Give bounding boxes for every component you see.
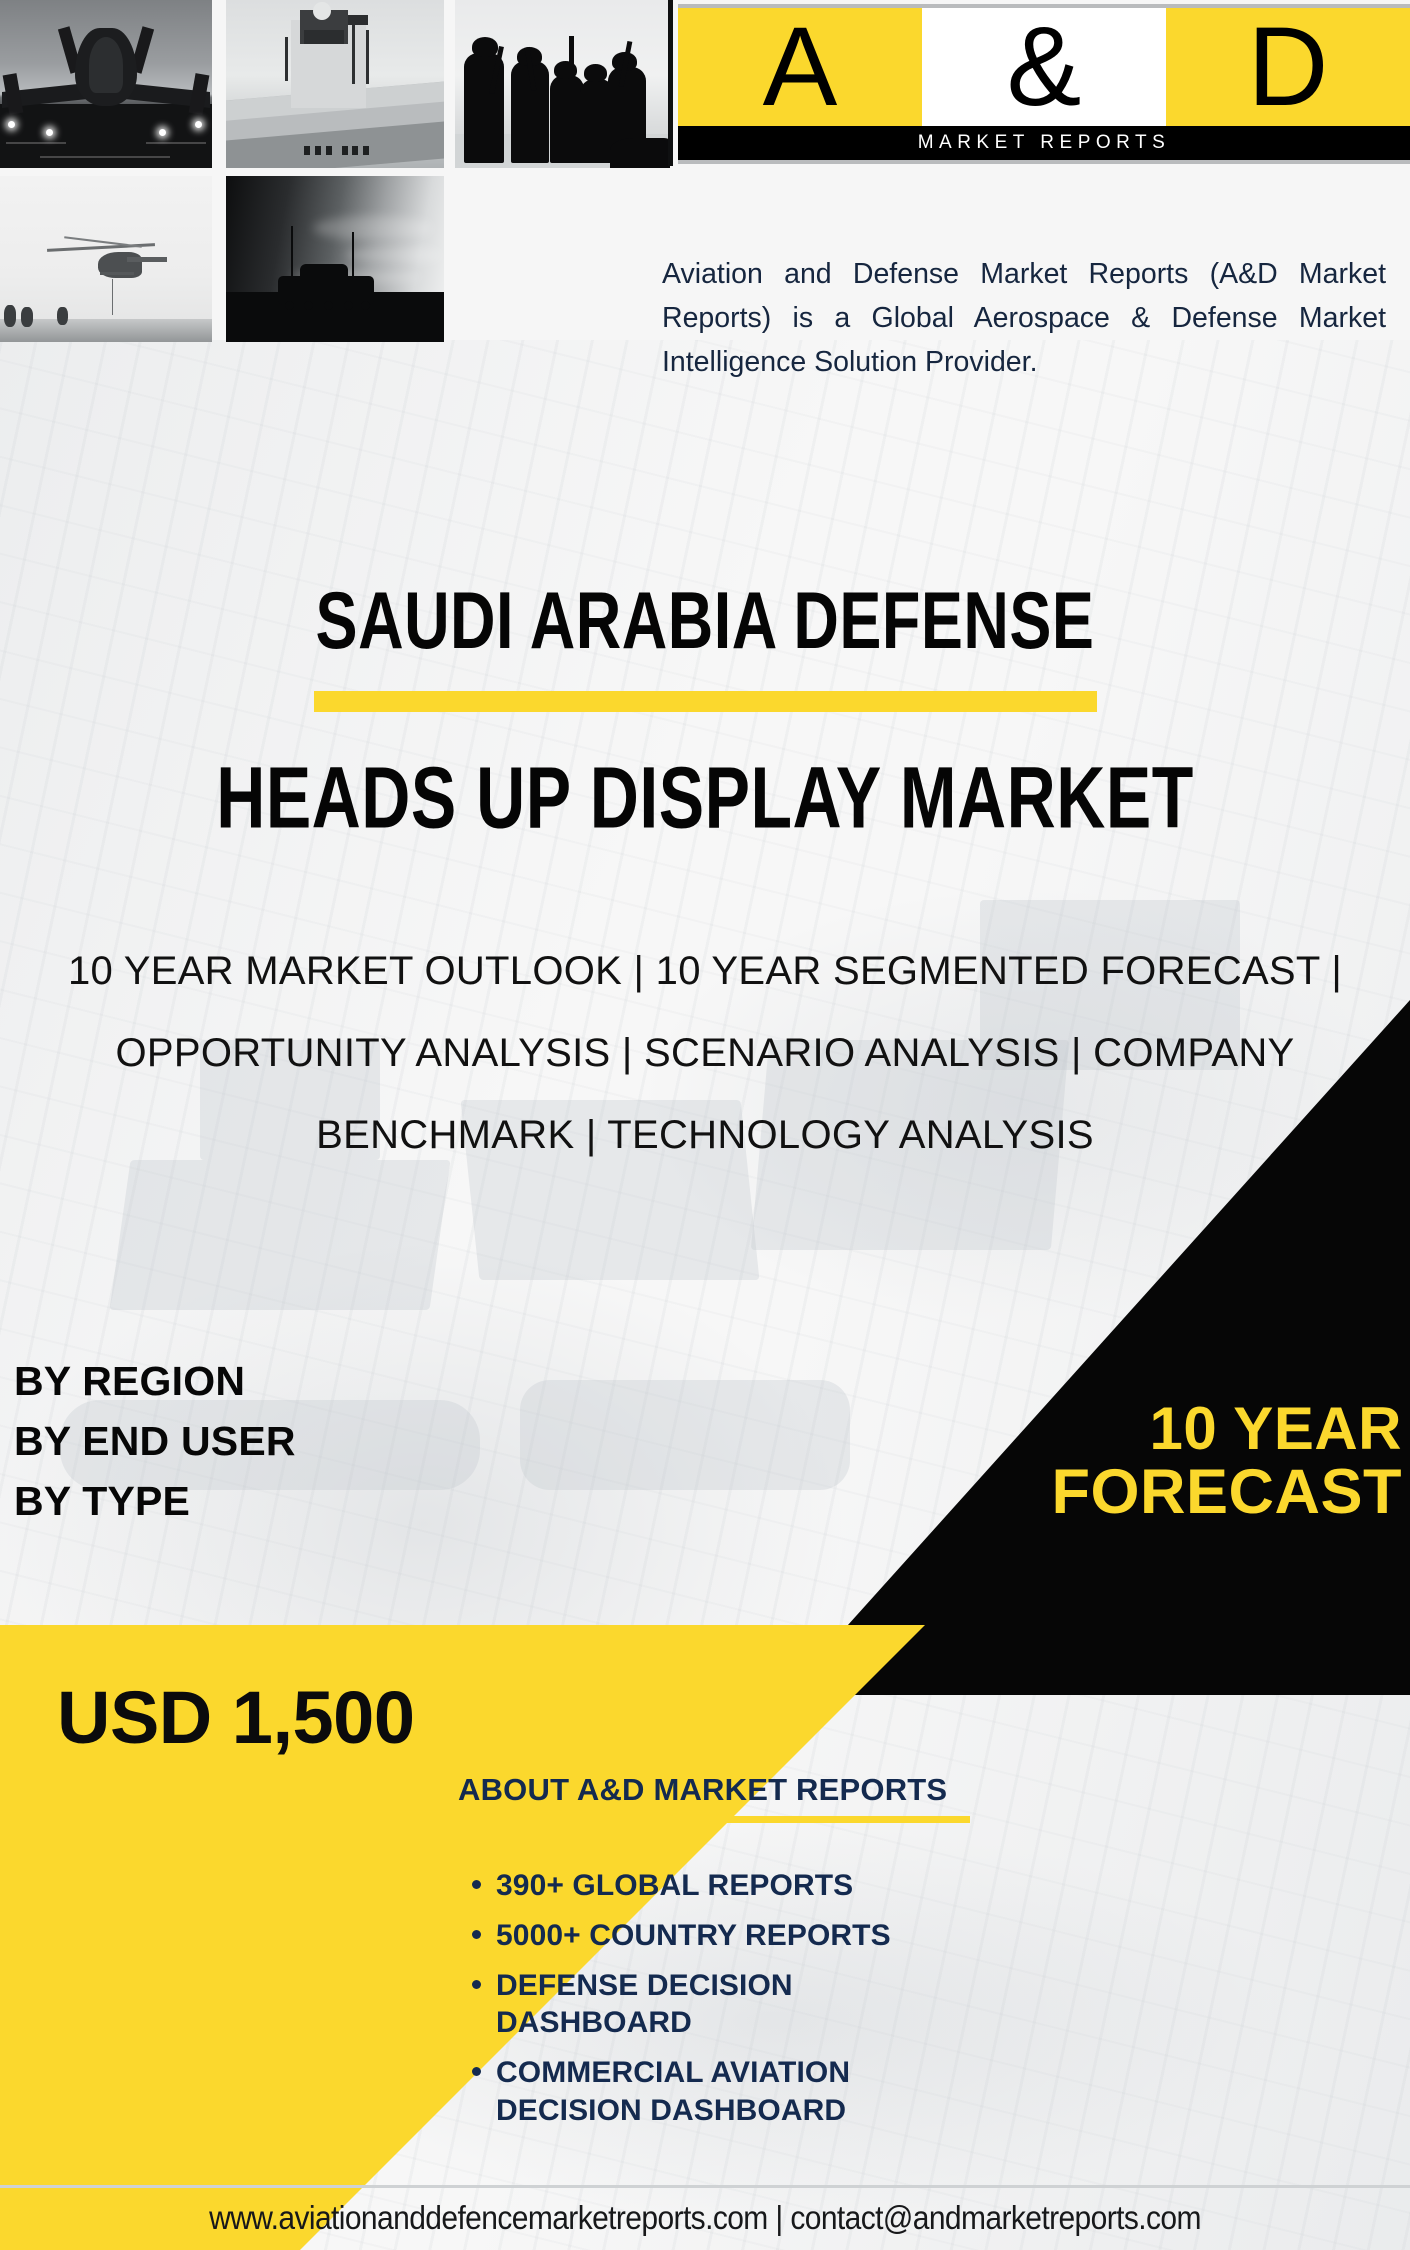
about-item-global-reports: 390+ GLOBAL REPORTS	[458, 1867, 988, 1905]
forecast-badge: 10 YEAR FORECAST	[842, 1398, 1402, 1526]
company-intro-paragraph: Aviation and Defense Market Reports (A&D…	[662, 252, 1386, 385]
logo-cell-a: A	[678, 8, 922, 126]
logo-letter-a: A	[763, 11, 838, 123]
about-section: ABOUT A&D MARKET REPORTS 390+ GLOBAL REP…	[458, 1772, 988, 2142]
about-item-commercial-dashboard: COMMERCIAL AVIATION DECISION DASHBOARD	[458, 2054, 988, 2130]
brand-logo: A & D MARKET REPORTS	[678, 0, 1410, 166]
about-bullet-list: 390+ GLOBAL REPORTS 5000+ COUNTRY REPORT…	[458, 1867, 988, 2130]
page-title: SAUDI ARABIA DEFENSE HEADS UP DISPLAY MA…	[0, 575, 1410, 827]
poster-root: A & D MARKET REPORTS Aviation and Defens…	[0, 0, 1410, 2250]
photo-armored-vehicle	[226, 176, 444, 342]
title-line-2: HEADS UP DISPLAY MARKET	[0, 748, 1410, 848]
logo-letter-ampersand: &	[1007, 11, 1082, 123]
photo-aircraft-carrier	[226, 0, 444, 168]
about-item-country-reports: 5000+ COUNTRY REPORTS	[458, 1917, 988, 1955]
logo-cell-ampersand: &	[922, 8, 1166, 126]
segment-item-region: BY REGION	[14, 1352, 634, 1412]
logo-cell-d: D	[1166, 8, 1410, 126]
logo-bottom-rule	[678, 160, 1410, 164]
photo-helicopter	[0, 176, 212, 342]
logo-letter-d: D	[1248, 11, 1329, 123]
title-line-1: SAUDI ARABIA DEFENSE	[0, 575, 1410, 668]
photo-fighter-jet	[0, 0, 212, 168]
report-scope-subtitle: 10 YEAR MARKET OUTLOOK | 10 YEAR SEGMENT…	[40, 930, 1370, 1176]
forecast-line-1: 10 YEAR	[842, 1398, 1402, 1460]
about-item-defense-dashboard: DEFENSE DECISION DASHBOARD	[458, 1967, 988, 2043]
price-amount: USD 1,500	[57, 1675, 414, 1760]
logo-side-rule	[668, 0, 673, 166]
photo-soldiers	[455, 0, 670, 168]
segment-item-end-user: BY END USER	[14, 1412, 634, 1472]
company-intro-text: Aviation and Defense Market Reports (A&D…	[662, 258, 1386, 378]
segment-item-type: BY TYPE	[14, 1472, 634, 1532]
about-heading: ABOUT A&D MARKET REPORTS	[458, 1772, 988, 1808]
segmentation-list: BY REGION BY END USER BY TYPE	[14, 1352, 634, 1532]
photo-strip	[0, 0, 670, 342]
footer-bar: www.aviationanddefencemarketreports.com …	[0, 2188, 1410, 2250]
footer-contact-text[interactable]: www.aviationanddefencemarketreports.com …	[209, 2200, 1201, 2238]
forecast-line-2: FORECAST	[842, 1460, 1402, 1526]
about-heading-underline	[458, 1816, 970, 1823]
title-divider-rule	[314, 691, 1097, 712]
logo-tagline: MARKET REPORTS	[918, 132, 1171, 154]
logo-tagline-bar: MARKET REPORTS	[678, 126, 1410, 160]
